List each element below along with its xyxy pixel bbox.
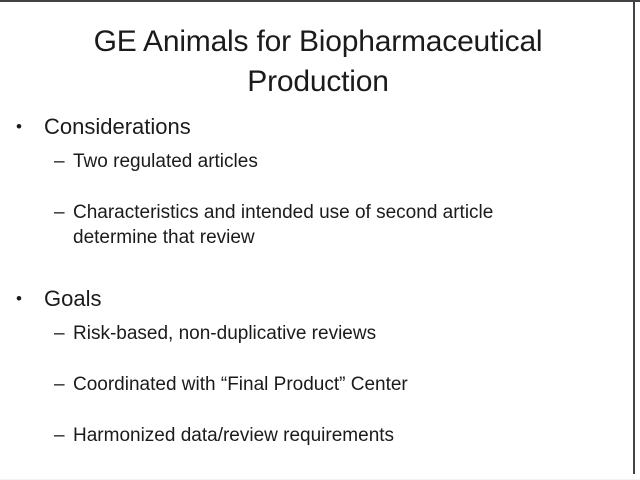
sub-bullet-two-regulated-articles: – Two regulated articles xyxy=(0,149,634,174)
spacer xyxy=(0,346,634,372)
sub-bullet-label: Risk-based, non-duplicative reviews xyxy=(73,321,563,346)
spacer xyxy=(0,174,634,200)
spacer xyxy=(0,314,634,321)
slide-title-line-1: GE Animals for Biopharmaceutical xyxy=(44,22,592,62)
sub-bullet-coordinated-final-product-center: – Coordinated with “Final Product” Cente… xyxy=(0,372,634,397)
outline-section-goals: • Goals – Risk-based, non-duplicative re… xyxy=(0,284,634,448)
slide-title: GE Animals for Biopharmaceutical Product… xyxy=(44,22,592,102)
slide-content-area: GE Animals for Biopharmaceutical Product… xyxy=(0,2,634,478)
sub-bullet-characteristics-intended-use: – Characteristics and intended use of se… xyxy=(0,200,634,250)
bullet-item-goals: • Goals xyxy=(0,284,634,314)
bullet-item-considerations: • Considerations xyxy=(0,112,634,142)
bullet-dot-icon: • xyxy=(16,284,44,314)
spacer xyxy=(0,142,634,149)
sub-bullet-risk-based-reviews: – Risk-based, non-duplicative reviews xyxy=(0,321,634,346)
sub-bullet-harmonized-data-review-requirements: – Harmonized data/review requirements xyxy=(0,423,634,448)
dash-icon: – xyxy=(54,372,73,397)
spacer xyxy=(0,250,634,284)
sub-bullet-label: Characteristics and intended use of seco… xyxy=(73,200,563,250)
dash-icon: – xyxy=(54,423,73,448)
bullet-label-considerations: Considerations xyxy=(44,112,634,142)
slide-outline: • Considerations – Two regulated article… xyxy=(0,112,634,448)
spacer xyxy=(0,397,634,423)
bullet-dot-icon: • xyxy=(16,112,44,142)
bullet-label-goals: Goals xyxy=(44,284,634,314)
sub-bullet-label: Harmonized data/review requirements xyxy=(73,423,563,448)
presentation-slide: GE Animals for Biopharmaceutical Product… xyxy=(0,0,640,480)
dash-icon: – xyxy=(54,200,73,225)
sub-bullet-label: Coordinated with “Final Product” Center xyxy=(73,372,563,397)
slide-title-line-2: Production xyxy=(44,62,592,102)
dash-icon: – xyxy=(54,321,73,346)
dash-icon: – xyxy=(54,149,73,174)
outline-section-considerations: • Considerations – Two regulated article… xyxy=(0,112,634,250)
sub-bullet-label: Two regulated articles xyxy=(73,149,563,174)
